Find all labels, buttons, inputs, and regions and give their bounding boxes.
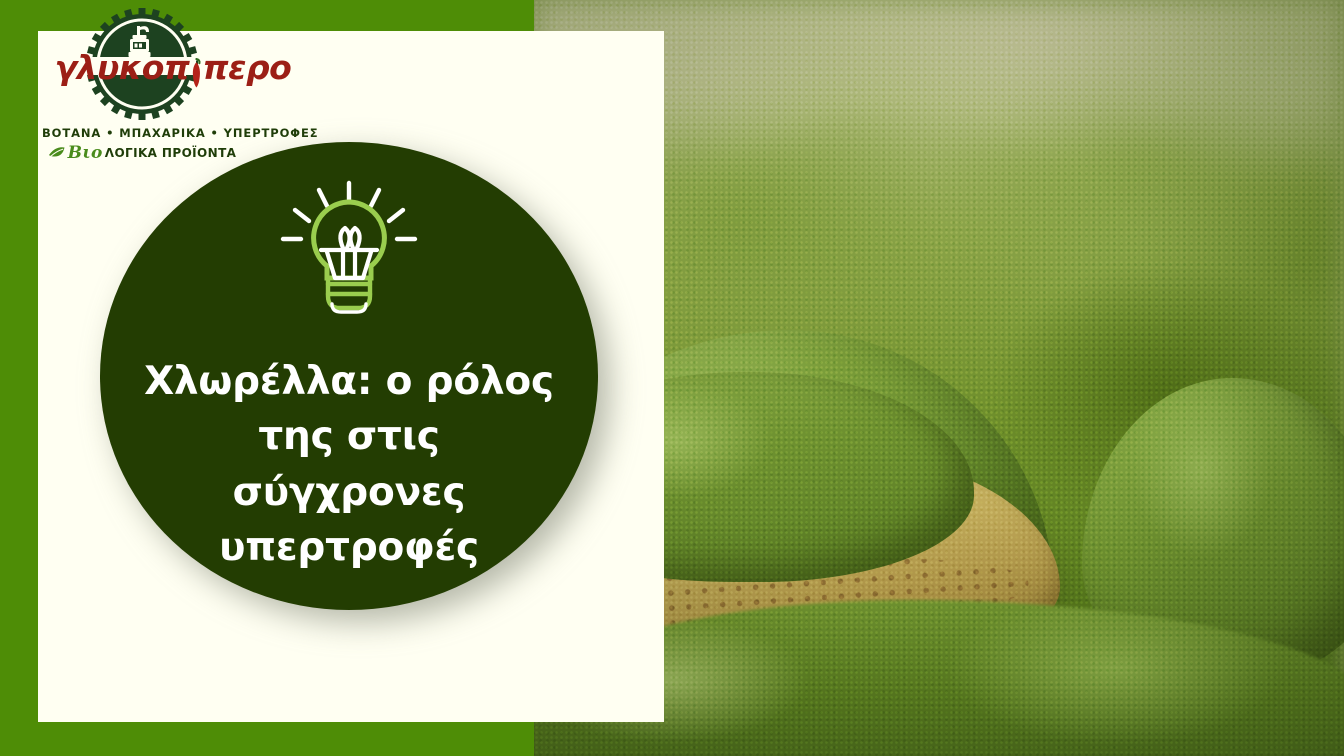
logo-tagline-secondary: ΒιοΛΟΓΙΚΑ ΠΡΟΪΟΝΤΑ xyxy=(42,144,242,161)
logo-bio-word: Βιο xyxy=(68,145,103,162)
headline-disc: Χλωρέλλα: ο ρόλος της στις σύγχρονες υπε… xyxy=(100,142,598,610)
banner-canvas: γλυκοπ περο ΒΟΤΑΝΑ • ΜΠΑΧΑΡΙΚΑ • ΥΠΕΡΤΡΟ… xyxy=(0,0,1344,756)
logo-wordmark-part1: γλυκοπ xyxy=(55,48,190,87)
chili-pepper-glyph xyxy=(189,57,204,91)
logo-tagline-primary: ΒΟΤΑΝΑ • ΜΠΑΧΑΡΙΚΑ • ΥΠΕΡΤΡΟΦΕΣ xyxy=(42,126,242,140)
logo-wordmark: γλυκοπ περο xyxy=(39,51,307,84)
headline-line-2: της στις σύγχρονες xyxy=(139,409,559,520)
brand-logo[interactable]: γλυκοπ περο ΒΟΤΑΝΑ • ΜΠΑΧΑΡΙΚΑ • ΥΠΕΡΤΡΟ… xyxy=(42,8,242,161)
headline-title: Χλωρέλλα: ο ρόλος της στις σύγχρονες υπε… xyxy=(139,354,559,576)
leaf-icon xyxy=(48,146,66,160)
lightbulb-with-sprout-icon xyxy=(275,180,423,330)
headline-line-1: Χλωρέλλα: ο ρόλος xyxy=(139,354,559,409)
headline-line-3: υπερτροφές xyxy=(139,520,559,575)
logo-wordmark-part2: περο xyxy=(203,48,292,87)
logo-mark: γλυκοπ περο xyxy=(75,8,209,120)
logo-tagline-rest: ΛΟΓΙΚΑ ΠΡΟΪΟΝΤΑ xyxy=(105,146,237,160)
